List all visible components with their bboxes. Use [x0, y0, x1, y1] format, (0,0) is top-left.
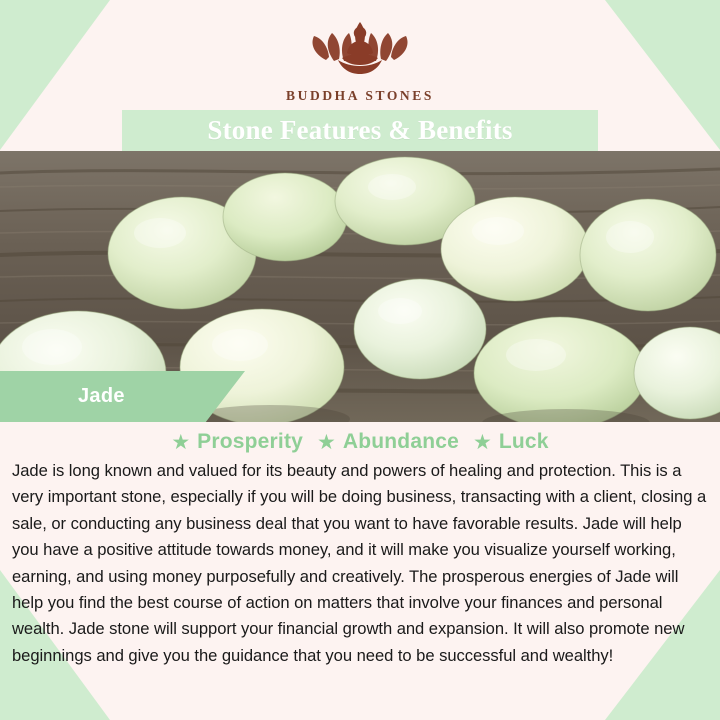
stone-description: Jade is long known and valued for its be…: [12, 458, 708, 669]
stone-name-strip: Jade: [0, 371, 245, 422]
lotus-meditation-figure-icon: [304, 14, 416, 82]
keyword-item: ★ Luck: [473, 430, 549, 454]
star-icon: ★: [171, 432, 190, 453]
star-icon: ★: [473, 432, 492, 453]
stone-name: Jade: [0, 385, 125, 408]
keyword-item: ★ Abundance: [317, 430, 459, 454]
brand-logo: BUDDHA STONES: [0, 14, 720, 104]
keyword-label: Abundance: [343, 430, 459, 454]
keyword-label: Luck: [499, 430, 549, 454]
brand-name: BUDDHA STONES: [286, 88, 434, 104]
stone-info-card: BUDDHA STONES Stone Features & Benefits: [0, 0, 720, 720]
keyword-label: Prosperity: [197, 430, 303, 454]
star-icon: ★: [317, 432, 336, 453]
header-band: Stone Features & Benefits: [122, 110, 598, 151]
keyword-item: ★ Prosperity: [171, 430, 303, 454]
page-title: Stone Features & Benefits: [207, 115, 512, 146]
keyword-list: ★ Prosperity ★ Abundance ★ Luck: [0, 430, 720, 454]
